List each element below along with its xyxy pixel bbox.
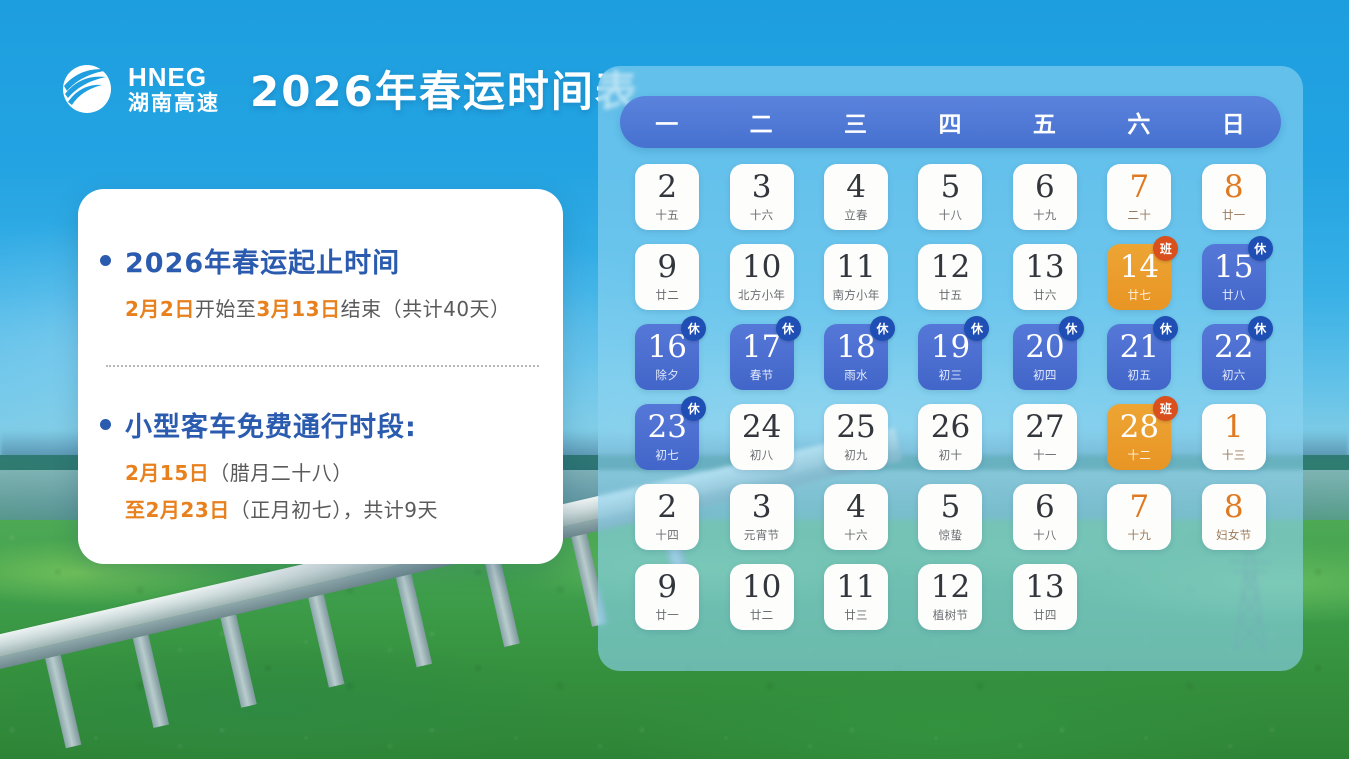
hunan-expressway-swoosh-logo-icon [62, 64, 112, 114]
calendar-day-cell[interactable]: 休20初四 [1013, 324, 1077, 390]
travel-mid-text: 开始至 [195, 297, 257, 321]
calendar-day-cell[interactable]: 休21初五 [1107, 324, 1171, 390]
calendar-day-cell[interactable]: 休19初三 [918, 324, 982, 390]
lunar-label: 十一 [1033, 450, 1057, 462]
day-number: 3 [752, 172, 772, 203]
section-line-free-toll-start: 2月15日（腊月二十八） [125, 457, 541, 486]
lunar-label: 初四 [1033, 370, 1057, 382]
day-number: 7 [1129, 172, 1149, 203]
day-number: 2 [657, 172, 677, 203]
weekday-tue: 二 [714, 105, 808, 139]
calendar-day-cell[interactable]: 休15廿八 [1202, 244, 1266, 310]
lunar-label: 十四 [655, 530, 679, 542]
calendar-day-cell[interactable]: 6十九 [1013, 164, 1077, 230]
day-number: 19 [931, 332, 970, 363]
lunar-label: 北方小年 [738, 290, 785, 302]
poster-canvas: HNEG 湖南高速 2026年春运时间表 2026年春运起止时间 2月2日开始至… [0, 0, 1349, 759]
bullet-dot-icon [100, 419, 111, 430]
day-number: 24 [742, 412, 781, 443]
day-number: 7 [1129, 492, 1149, 523]
lunar-label: 廿二 [655, 290, 679, 302]
lunar-label: 除夕 [655, 370, 679, 382]
info-card: 2026年春运起止时间 2月2日开始至3月13日结束（共计40天） 小型客车免费… [78, 189, 563, 564]
free-start-lunar: （腊月二十八） [209, 461, 353, 485]
day-number: 10 [742, 572, 781, 603]
day-number: 21 [1120, 332, 1159, 363]
calendar-day-cell[interactable]: 2十五 [635, 164, 699, 230]
day-number: 6 [1035, 492, 1055, 523]
weekday-fri: 五 [998, 105, 1092, 139]
day-number: 11 [836, 252, 875, 283]
calendar-day-cell[interactable]: 7二十 [1107, 164, 1171, 230]
calendar-day-cell[interactable]: 2十四 [635, 484, 699, 550]
travel-total-text: 结束（共计40天） [341, 297, 511, 321]
free-end-date: 至2月23日 [125, 498, 230, 522]
lunar-label: 廿二 [750, 610, 774, 622]
day-number: 1 [1224, 412, 1244, 443]
rest-badge: 休 [1153, 316, 1178, 341]
day-number: 18 [836, 332, 875, 363]
day-number: 9 [657, 252, 677, 283]
day-number: 28 [1120, 412, 1159, 443]
lunar-label: 廿八 [1222, 290, 1246, 302]
calendar-weekday-header: 一 二 三 四 五 六 日 [620, 96, 1281, 148]
day-number: 14 [1120, 252, 1159, 283]
calendar-day-cell[interactable]: 13廿四 [1013, 564, 1077, 630]
day-number: 12 [931, 572, 970, 603]
logo-cn-text: 湖南高速 [128, 93, 220, 114]
lunar-label: 十九 [1033, 210, 1057, 222]
calendar-day-cell[interactable]: 休18雨水 [824, 324, 888, 390]
day-number: 6 [1035, 172, 1055, 203]
rest-badge: 休 [776, 316, 801, 341]
day-number: 26 [931, 412, 970, 443]
calendar-day-cell[interactable]: 4立春 [824, 164, 888, 230]
lunar-label: 十五 [655, 210, 679, 222]
calendar-cell-empty [1202, 564, 1266, 630]
info-section-travel-period: 2026年春运起止时间 2月2日开始至3月13日结束（共计40天） [100, 241, 541, 322]
free-end-lunar: （正月初七），共计9天 [230, 498, 438, 522]
calendar-day-cell[interactable]: 9廿一 [635, 564, 699, 630]
day-number: 4 [846, 172, 866, 203]
rest-badge: 休 [1248, 236, 1273, 261]
calendar-day-cell[interactable]: 1十三 [1202, 404, 1266, 470]
day-number: 13 [1025, 572, 1064, 603]
calendar-grid: 2十五3十六4立春5十八6十九7二十8廿一9廿二10北方小年11南方小年12廿五… [620, 164, 1281, 630]
rest-badge: 休 [681, 396, 706, 421]
day-number: 8 [1224, 492, 1244, 523]
rest-badge: 休 [964, 316, 989, 341]
section-title-travel-period: 2026年春运起止时间 [125, 241, 400, 280]
day-number: 22 [1214, 332, 1253, 363]
card-divider [106, 365, 539, 367]
weekday-mon: 一 [620, 105, 714, 139]
lunar-label: 廿一 [655, 610, 679, 622]
calendar-day-cell[interactable]: 25初九 [824, 404, 888, 470]
calendar-day-cell[interactable]: 26初十 [918, 404, 982, 470]
travel-end-date: 3月13日 [256, 297, 340, 321]
lunar-label: 初十 [939, 450, 963, 462]
calendar-day-cell[interactable]: 6十八 [1013, 484, 1077, 550]
day-number: 23 [647, 412, 686, 443]
rest-badge: 休 [1248, 316, 1273, 341]
day-number: 12 [931, 252, 970, 283]
day-number: 5 [941, 492, 961, 523]
day-number: 2 [657, 492, 677, 523]
calendar-day-cell[interactable]: 休17春节 [730, 324, 794, 390]
lunar-label: 廿四 [1033, 610, 1057, 622]
lunar-label: 元宵节 [744, 530, 779, 542]
logo-en-text: HNEG [128, 64, 220, 90]
lunar-label: 春节 [750, 370, 774, 382]
day-number: 11 [836, 572, 875, 603]
lunar-label: 十八 [1033, 530, 1057, 542]
lunar-label: 十八 [939, 210, 963, 222]
day-number: 13 [1025, 252, 1064, 283]
day-number: 9 [657, 572, 677, 603]
calendar-day-cell[interactable]: 3十六 [730, 164, 794, 230]
calendar-day-cell[interactable]: 班14廿七 [1107, 244, 1171, 310]
day-number: 3 [752, 492, 772, 523]
weekday-sat: 六 [1092, 105, 1186, 139]
weekday-thu: 四 [903, 105, 997, 139]
calendar-day-cell[interactable]: 8妇女节 [1202, 484, 1266, 550]
page-title: 2026年春运时间表 [250, 58, 639, 119]
lunar-label: 惊蛰 [939, 530, 963, 542]
calendar-day-cell[interactable]: 9廿二 [635, 244, 699, 310]
weekday-wed: 三 [809, 105, 903, 139]
lunar-label: 立春 [844, 210, 868, 222]
day-number: 4 [846, 492, 866, 523]
calendar-day-cell[interactable]: 休16除夕 [635, 324, 699, 390]
calendar-day-cell[interactable]: 班28十二 [1107, 404, 1171, 470]
lunar-label: 二十 [1128, 210, 1152, 222]
lunar-label: 十三 [1222, 450, 1246, 462]
lunar-label: 雨水 [844, 370, 868, 382]
lunar-label: 廿六 [1033, 290, 1057, 302]
weekday-sun: 日 [1187, 105, 1281, 139]
calendar-panel: 一 二 三 四 五 六 日 2十五3十六4立春5十八6十九7二十8廿一9廿二10… [598, 66, 1303, 671]
work-badge: 班 [1153, 236, 1178, 261]
lunar-label: 十六 [750, 210, 774, 222]
lunar-label: 十九 [1128, 530, 1152, 542]
calendar-day-cell[interactable]: 24初八 [730, 404, 794, 470]
info-section-free-toll: 小型客车免费通行时段: 2月15日（腊月二十八） 至2月23日（正月初七），共计… [100, 405, 541, 523]
lunar-label: 初九 [844, 450, 868, 462]
work-badge: 班 [1153, 396, 1178, 421]
calendar-day-cell[interactable]: 11廿三 [824, 564, 888, 630]
section-title-free-toll: 小型客车免费通行时段: [125, 405, 417, 444]
lunar-label: 植树节 [933, 610, 968, 622]
calendar-day-cell[interactable]: 10廿二 [730, 564, 794, 630]
lunar-label: 廿七 [1128, 290, 1152, 302]
calendar-day-cell[interactable]: 11南方小年 [824, 244, 888, 310]
calendar-day-cell[interactable]: 休23初七 [635, 404, 699, 470]
calendar-day-cell[interactable]: 休22初六 [1202, 324, 1266, 390]
travel-start-date: 2月2日 [125, 297, 195, 321]
section-line-free-toll-end: 至2月23日（正月初七），共计9天 [125, 494, 541, 523]
calendar-day-cell[interactable]: 7十九 [1107, 484, 1171, 550]
day-number: 10 [742, 252, 781, 283]
lunar-label: 初七 [655, 450, 679, 462]
brand-header: HNEG 湖南高速 2026年春运时间表 [62, 58, 639, 119]
lunar-label: 廿三 [844, 610, 868, 622]
calendar-day-cell[interactable]: 12廿五 [918, 244, 982, 310]
calendar-day-cell[interactable]: 5惊蛰 [918, 484, 982, 550]
lunar-label: 十六 [844, 530, 868, 542]
rest-badge: 休 [870, 316, 895, 341]
lunar-label: 初三 [939, 370, 963, 382]
day-number: 8 [1224, 172, 1244, 203]
calendar-day-cell[interactable]: 12植树节 [918, 564, 982, 630]
bullet-dot-icon [100, 255, 111, 266]
day-number: 15 [1214, 252, 1253, 283]
free-start-date: 2月15日 [125, 461, 209, 485]
lunar-label: 初五 [1128, 370, 1152, 382]
lunar-label: 廿一 [1222, 210, 1246, 222]
calendar-day-cell[interactable]: 5十八 [918, 164, 982, 230]
calendar-cell-empty [1107, 564, 1171, 630]
lunar-label: 廿五 [939, 290, 963, 302]
lunar-label: 初八 [750, 450, 774, 462]
lunar-label: 南方小年 [832, 290, 879, 302]
calendar-day-cell[interactable]: 13廿六 [1013, 244, 1077, 310]
rest-badge: 休 [1059, 316, 1084, 341]
calendar-day-cell[interactable]: 4十六 [824, 484, 888, 550]
day-number: 5 [941, 172, 961, 203]
lunar-label: 初六 [1222, 370, 1246, 382]
lunar-label: 妇女节 [1216, 530, 1251, 542]
calendar-day-cell[interactable]: 10北方小年 [730, 244, 794, 310]
rest-badge: 休 [681, 316, 706, 341]
day-number: 17 [742, 332, 781, 363]
day-number: 25 [836, 412, 875, 443]
calendar-day-cell[interactable]: 8廿一 [1202, 164, 1266, 230]
calendar-day-cell[interactable]: 3元宵节 [730, 484, 794, 550]
calendar-day-cell[interactable]: 27十一 [1013, 404, 1077, 470]
section-line-travel-period: 2月2日开始至3月13日结束（共计40天） [125, 293, 541, 322]
day-number: 20 [1025, 332, 1064, 363]
day-number: 16 [647, 332, 686, 363]
day-number: 27 [1025, 412, 1064, 443]
lunar-label: 十二 [1128, 450, 1152, 462]
